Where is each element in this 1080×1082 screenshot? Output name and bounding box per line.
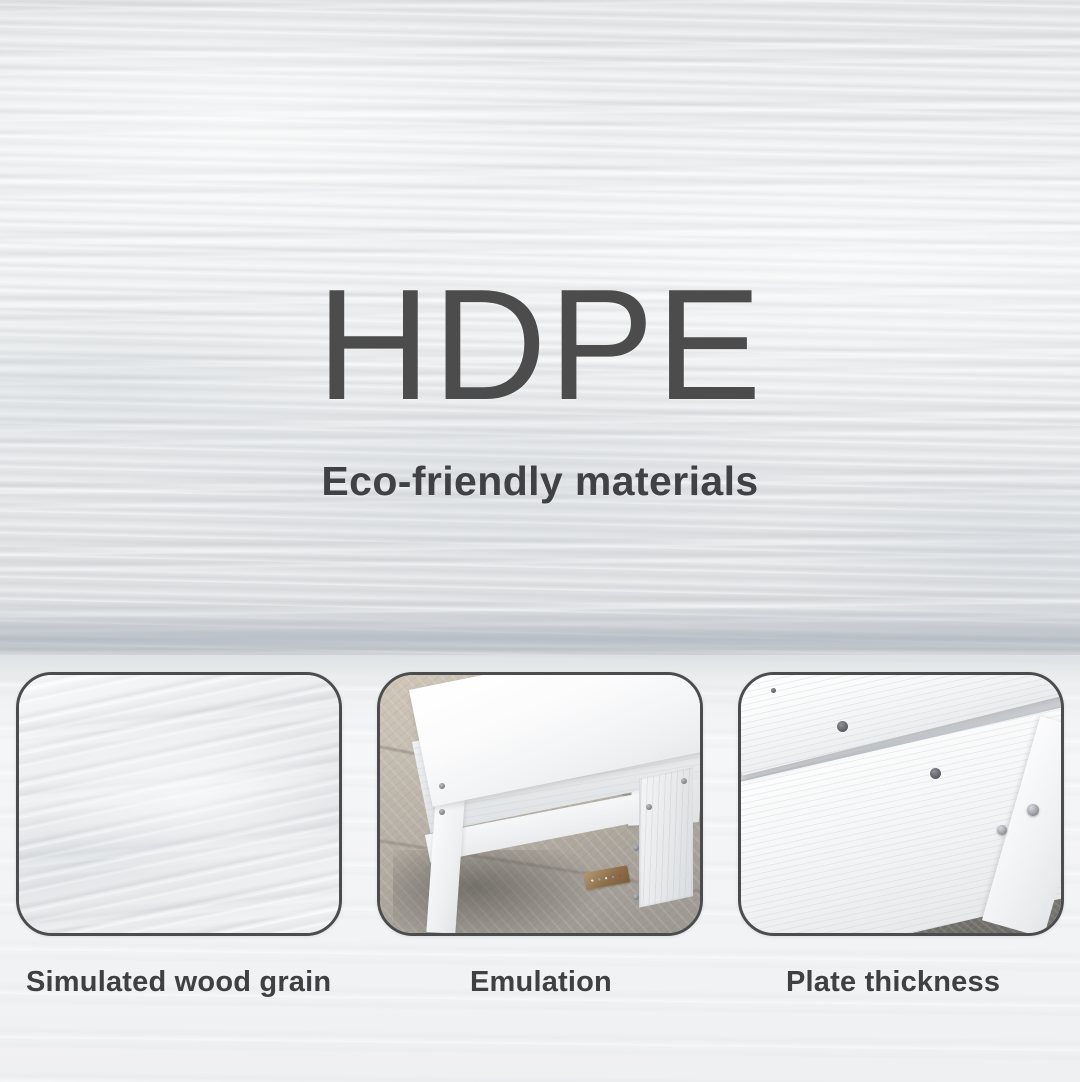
feature-panel-wood-grain (16, 672, 342, 936)
screw-icon (1027, 804, 1039, 816)
ground-shadow (393, 850, 598, 936)
screw-icon (681, 778, 687, 784)
feature-label-row: Simulated wood grain Emulation Plate thi… (0, 958, 1080, 1016)
headline-block: HDPE Eco-friendly materials (0, 266, 1080, 505)
feature-panel-row (16, 672, 1064, 936)
bench-end-grain-lines (639, 767, 693, 908)
feature-label-emulation: Emulation (470, 966, 612, 999)
screw-hole-icon (930, 768, 941, 779)
hdpe-feature-poster: HDPE Eco-friendly materials (0, 0, 1080, 1082)
screw-icon (646, 804, 652, 810)
brand-plaque-dots (587, 870, 626, 884)
screw-icon (997, 825, 1007, 835)
feature-label-wood-grain: Simulated wood grain (26, 966, 331, 999)
feature-label-plate-thickness: Plate thickness (786, 966, 1000, 999)
page-title: HDPE (0, 266, 1080, 424)
wood-grain-lighting (19, 675, 339, 933)
background-seam-line (0, 648, 1080, 651)
feature-panel-emulation (377, 672, 703, 936)
feature-panel-plate-thickness (738, 672, 1064, 936)
page-subtitle: Eco-friendly materials (0, 458, 1080, 505)
